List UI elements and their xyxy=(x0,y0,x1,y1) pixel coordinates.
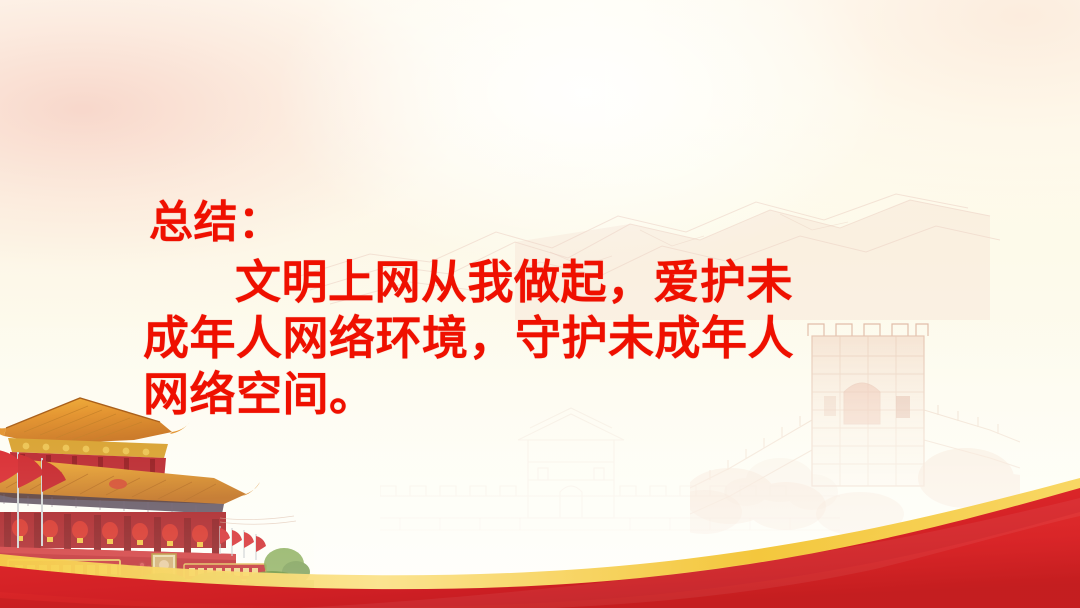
slide-body-line-2: 成年人网络环境，守护未成年人 xyxy=(143,310,933,366)
slide-body-line-1: 文明上网从我做起，爱护未 xyxy=(143,254,933,310)
presentation-slide: 总结： 文明上网从我做起，爱护未 成年人网络环境，守护未成年人 网络空间。 xyxy=(0,0,1080,608)
slide-body-line-3: 网络空间。 xyxy=(143,366,933,422)
slide-summary-label: 总结： xyxy=(149,196,933,250)
red-ribbon xyxy=(0,468,1080,608)
slide-text-block: 总结： 文明上网从我做起，爱护未 成年人网络环境，守护未成年人 网络空间。 xyxy=(143,196,933,422)
